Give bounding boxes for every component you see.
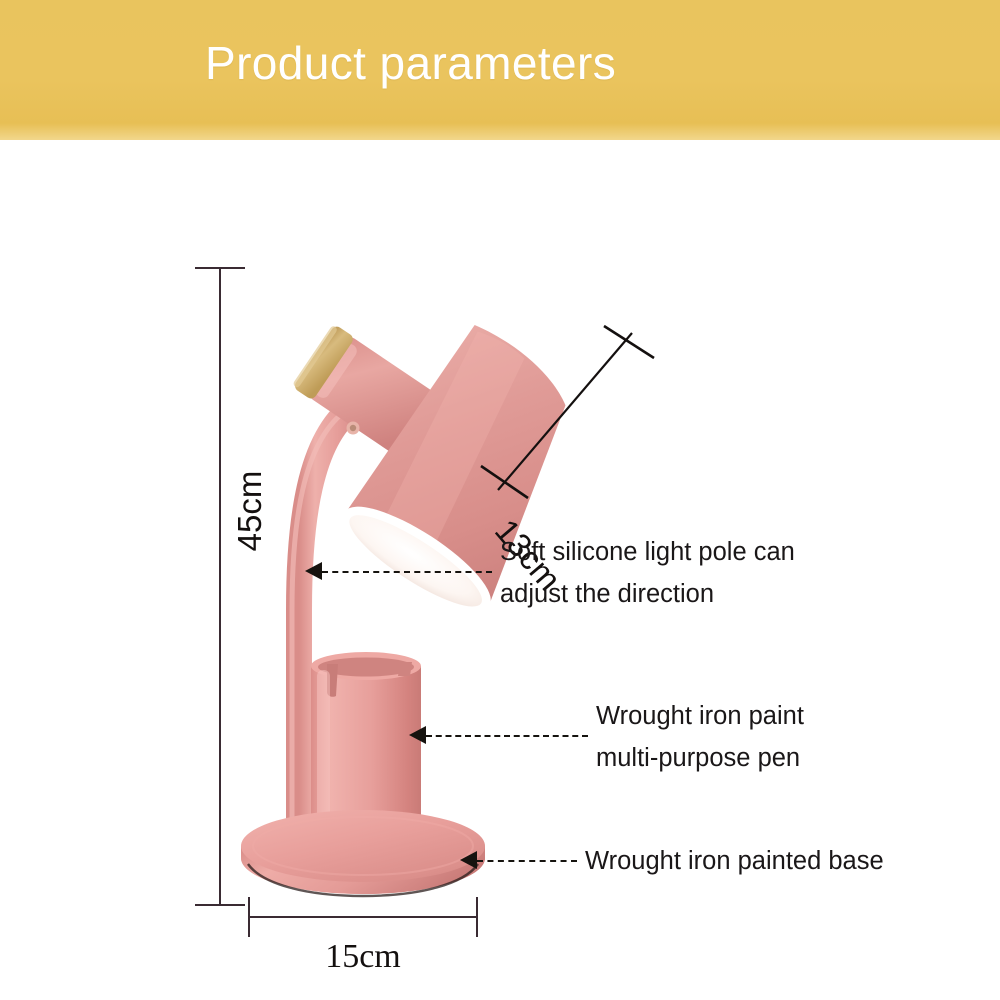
annotation-pen-holder-text: Wrought iron paint multi-purpose pen bbox=[596, 695, 804, 779]
annotation-pole-text: Soft silicone light pole can adjust the … bbox=[500, 531, 795, 615]
dimension-cap-height-bottom bbox=[195, 904, 245, 906]
dimension-cap-base-left bbox=[248, 897, 250, 937]
annotation-base-line1: Wrought iron painted base bbox=[585, 840, 884, 882]
arrow-left-icon bbox=[409, 726, 426, 744]
annotation-pole-line2: adjust the direction bbox=[500, 573, 795, 615]
annotation-pen-holder-line2: multi-purpose pen bbox=[596, 737, 804, 779]
dimension-label-height: 45cm bbox=[231, 421, 269, 601]
dimension-line-shade-diameter bbox=[480, 320, 660, 500]
annotation-pen-holder-leader-line bbox=[426, 735, 588, 737]
dimension-label-base-diameter: 15cm bbox=[248, 938, 478, 976]
arrow-left-icon bbox=[460, 851, 477, 869]
page-title: Product parameters bbox=[205, 36, 616, 90]
arrow-left-icon bbox=[305, 562, 322, 580]
dimension-cap-base-right bbox=[476, 897, 478, 937]
annotation-base-text: Wrought iron painted base bbox=[585, 840, 884, 882]
annotation-pole-leader-line bbox=[322, 571, 492, 573]
annotation-pole-line1: Soft silicone light pole can bbox=[500, 531, 795, 573]
annotation-pen-holder-line1: Wrought iron paint bbox=[596, 695, 804, 737]
annotation-base-leader-line bbox=[477, 860, 577, 862]
dimension-line-base-diameter bbox=[249, 916, 478, 918]
product-diagram-stage: 45cm 15cm 13cm Soft silicone light pole … bbox=[0, 140, 1000, 1000]
dimension-line-height bbox=[219, 268, 221, 906]
dimension-cap-height-top bbox=[195, 267, 245, 269]
header-banner: Product parameters bbox=[0, 0, 1000, 140]
